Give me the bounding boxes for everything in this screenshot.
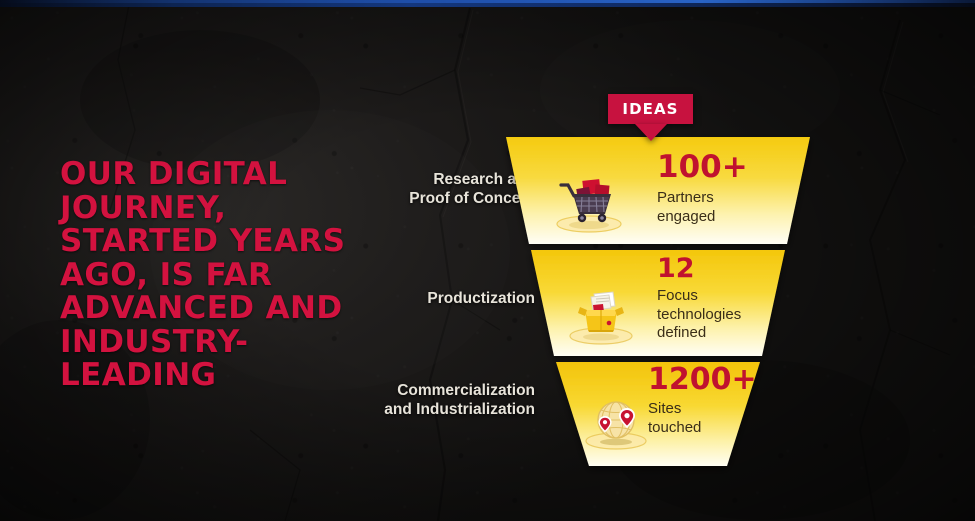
top-accent-strip-sheen: [0, 0, 975, 3]
stat-description-line: Focus: [657, 287, 741, 306]
presentation-slide: OUR DIGITAL JOURNEY, STARTED YEARS AGO, …: [0, 0, 975, 521]
stat-description-line: Partners: [657, 189, 748, 208]
stage-label-line: and Industrialization: [305, 400, 535, 419]
ideas-badge: IDEAS: [608, 94, 693, 124]
open-box-icon: [563, 286, 639, 348]
stage-label-line: Productization: [305, 289, 535, 308]
stat-description-line: touched: [648, 419, 757, 438]
globe-pins-icon: [578, 391, 654, 453]
stage-label-research: Research and Proof of Concept: [305, 170, 535, 208]
stage-label-line: Proof of Concept: [305, 189, 535, 208]
stage-label-productization: Productization: [305, 289, 535, 308]
headline-line: STARTED YEARS: [60, 225, 360, 259]
headline-line: AGO, IS FAR: [60, 259, 360, 293]
shopping-cart-icon: [551, 172, 627, 234]
funnel-stat-commercialization: 1200+ Sites touched: [648, 365, 757, 437]
stage-label-line: Commercialization: [305, 381, 535, 400]
stat-number: 12: [657, 255, 741, 282]
stage-label-commercialization: Commercialization and Industrialization: [305, 381, 535, 419]
ideas-badge-label: IDEAS: [622, 100, 678, 118]
funnel-stat-research: 100+ Partners engaged: [657, 152, 748, 226]
headline-line: INDUSTRY-: [60, 326, 360, 360]
stat-number: 1200+: [648, 365, 757, 395]
stat-description: Partners engaged: [657, 189, 748, 226]
stat-description-line: technologies: [657, 306, 741, 325]
stage-label-line: Research and: [305, 170, 535, 189]
stat-description-line: Sites: [648, 400, 757, 419]
funnel-stat-productization: 12 Focus technologies defined: [657, 255, 741, 343]
stat-description: Sites touched: [648, 400, 757, 437]
stat-description-line: defined: [657, 324, 741, 343]
ideas-badge-pointer-icon: [635, 124, 667, 141]
stat-description-line: engaged: [657, 208, 748, 227]
stat-description: Focus technologies defined: [657, 287, 741, 343]
stat-number: 100+: [657, 152, 748, 183]
